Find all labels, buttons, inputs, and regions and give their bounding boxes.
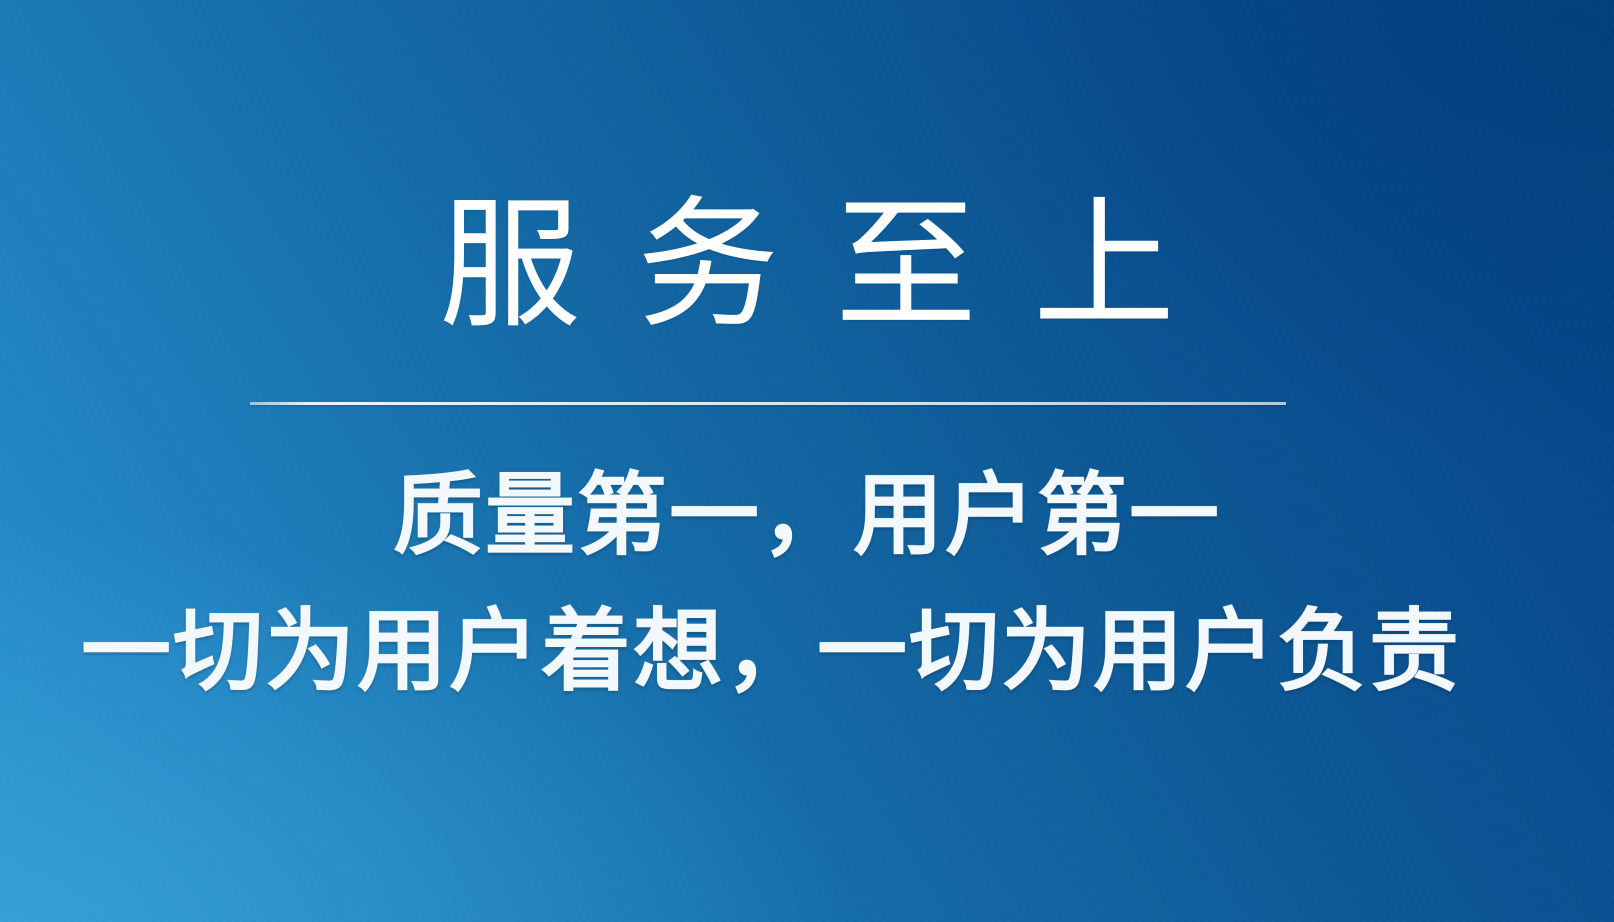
page-title: 服务至上: [383, 186, 1231, 346]
headline-container: 服务至上: [0, 186, 1614, 346]
divider: [250, 402, 1286, 405]
subheading-container: 质量第一，用户第一 一切为用户着想，一切为用户负责: [0, 448, 1614, 720]
subheading-line-1: 质量第一，用户第一: [0, 448, 1614, 584]
subheading-line-2: 一切为用户着想，一切为用户负责: [0, 584, 1578, 720]
slide-canvas: 服务至上 质量第一，用户第一 一切为用户着想，一切为用户负责: [0, 0, 1614, 922]
